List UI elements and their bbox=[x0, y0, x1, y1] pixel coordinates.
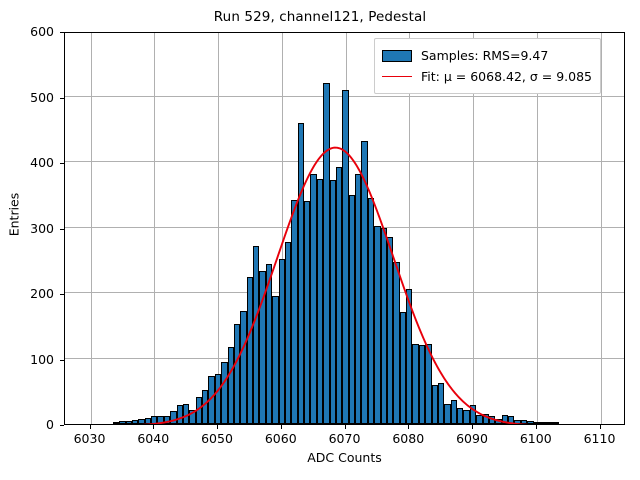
y-tick-label: 600 bbox=[0, 24, 54, 39]
legend-item-samples[interactable]: Samples: RMS=9.47 bbox=[382, 45, 592, 66]
x-tick-label: 6070 bbox=[315, 431, 375, 446]
y-tick-mark bbox=[60, 32, 64, 33]
gridline-vertical bbox=[154, 33, 155, 424]
gridline-vertical bbox=[91, 33, 92, 424]
chart-title: Run 529, channel121, Pedestal bbox=[0, 9, 640, 25]
legend-line-swatch-icon bbox=[382, 76, 412, 77]
x-tick-mark bbox=[153, 425, 154, 429]
x-axis-label: ADC Counts bbox=[64, 450, 625, 465]
x-tick-label: 6050 bbox=[187, 431, 247, 446]
y-axis-label: Entries bbox=[7, 125, 22, 305]
legend-label-samples: Samples: RMS=9.47 bbox=[421, 48, 548, 63]
x-tick-label: 6060 bbox=[251, 431, 311, 446]
x-tick-label: 6100 bbox=[506, 431, 566, 446]
y-tick-label: 500 bbox=[0, 90, 54, 105]
x-tick-mark bbox=[600, 425, 601, 429]
y-tick-mark bbox=[60, 294, 64, 295]
y-tick-mark bbox=[60, 425, 64, 426]
y-tick-mark bbox=[60, 360, 64, 361]
x-tick-label: 6040 bbox=[123, 431, 183, 446]
legend-patch-swatch-icon bbox=[382, 50, 412, 62]
gridline-vertical bbox=[218, 33, 219, 424]
matplotlib-figure: Run 529, channel121, Pedestal 6030604060… bbox=[0, 0, 640, 480]
y-tick-mark bbox=[60, 98, 64, 99]
histogram-bar bbox=[553, 422, 559, 424]
y-tick-label: 100 bbox=[0, 352, 54, 367]
chart-legend[interactable]: Samples: RMS=9.47 Fit: μ = 6068.42, σ = … bbox=[374, 38, 601, 94]
x-tick-mark bbox=[536, 425, 537, 429]
x-tick-mark bbox=[281, 425, 282, 429]
x-tick-mark bbox=[345, 425, 346, 429]
x-tick-mark bbox=[472, 425, 473, 429]
x-tick-mark bbox=[90, 425, 91, 429]
legend-item-fit[interactable]: Fit: μ = 6068.42, σ = 9.085 bbox=[382, 66, 592, 87]
legend-label-fit: Fit: μ = 6068.42, σ = 9.085 bbox=[421, 69, 592, 84]
x-tick-mark bbox=[217, 425, 218, 429]
y-tick-label: 0 bbox=[0, 417, 54, 432]
x-tick-label: 6090 bbox=[442, 431, 502, 446]
y-tick-mark bbox=[60, 229, 64, 230]
x-tick-label: 6110 bbox=[570, 431, 630, 446]
x-tick-label: 6080 bbox=[378, 431, 438, 446]
y-tick-mark bbox=[60, 163, 64, 164]
x-tick-label: 6030 bbox=[60, 431, 120, 446]
x-tick-mark bbox=[408, 425, 409, 429]
